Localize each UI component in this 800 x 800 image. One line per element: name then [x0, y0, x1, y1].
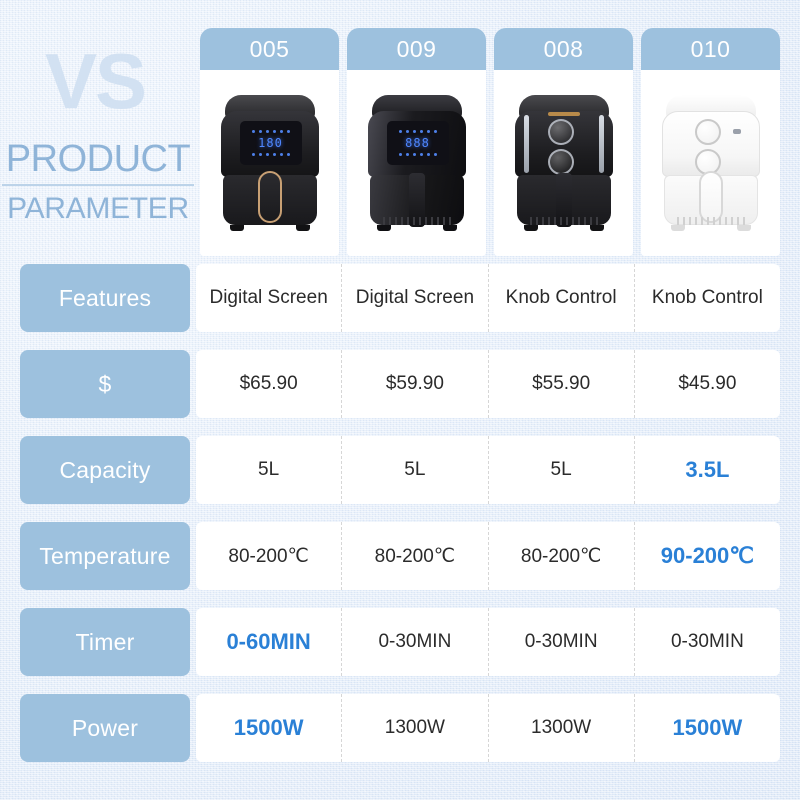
page-title-parameter: PARAMETER	[0, 193, 196, 225]
cell-timer-009: 0-30MIN	[342, 608, 488, 676]
cell-temperature-009: 80-200℃	[342, 522, 488, 590]
air-fryer-black-glossy-touch-icon: 888	[365, 95, 469, 231]
row-values: 0-60MIN 0-30MIN 0-30MIN 0-30MIN	[196, 608, 780, 676]
row-values: $65.90 $59.90 $55.90 $45.90	[196, 350, 780, 418]
cell-timer-005: 0-60MIN	[196, 608, 342, 676]
cell-temperature-005: 80-200℃	[196, 522, 342, 590]
handle	[258, 171, 282, 223]
digital-readout: 180	[258, 136, 283, 150]
cell-power-005: 1500W	[196, 694, 342, 762]
cell-price-008: $55.90	[489, 350, 635, 418]
table-row: Timer 0-60MIN 0-30MIN 0-30MIN 0-30MIN	[0, 608, 800, 676]
cell-capacity-010: 3.5L	[635, 436, 780, 504]
product-image-008	[494, 70, 633, 256]
temperature-knob	[695, 119, 721, 145]
digital-readout: 888	[405, 136, 430, 150]
power-led-icon	[733, 129, 741, 134]
comparison-table: Features Digital Screen Digital Screen K…	[0, 264, 800, 780]
air-fryer-black-digital-icon: 180	[218, 95, 322, 231]
row-label-temperature: Temperature	[20, 522, 190, 590]
table-row: Temperature 80-200℃ 80-200℃ 80-200℃ 90-2…	[0, 522, 800, 590]
table-row: $ $65.90 $59.90 $55.90 $45.90	[0, 350, 800, 418]
product-card-008[interactable]: 008	[490, 28, 637, 256]
product-image-005: 180	[200, 70, 339, 256]
product-model-label: 009	[347, 28, 486, 70]
row-values: Digital Screen Digital Screen Knob Contr…	[196, 264, 780, 332]
product-model-label: 008	[494, 28, 633, 70]
page-title-product: PRODUCT	[2, 140, 194, 186]
cell-capacity-009: 5L	[342, 436, 488, 504]
cell-temperature-008: 80-200℃	[489, 522, 635, 590]
product-model-label: 005	[200, 28, 339, 70]
product-card-010[interactable]: 010	[637, 28, 784, 256]
row-label-power: Power	[20, 694, 190, 762]
timer-knob	[548, 149, 574, 175]
cell-price-009: $59.90	[342, 350, 488, 418]
handle	[699, 171, 723, 223]
product-image-010	[641, 70, 780, 256]
row-label-price: $	[20, 350, 190, 418]
cell-features-010: Knob Control	[635, 264, 780, 332]
side-accent	[599, 115, 604, 173]
air-fryer-white-knob-icon	[659, 95, 763, 231]
row-label-timer: Timer	[20, 608, 190, 676]
table-row: Capacity 5L 5L 5L 3.5L	[0, 436, 800, 504]
page-title-block: VS PRODUCT PARAMETER	[0, 44, 196, 224]
cell-price-005: $65.90	[196, 350, 342, 418]
digital-panel: 180	[240, 121, 302, 165]
product-card-005[interactable]: 005 180	[196, 28, 343, 256]
cell-power-008: 1300W	[489, 694, 635, 762]
cell-capacity-005: 5L	[196, 436, 342, 504]
cell-capacity-008: 5L	[489, 436, 635, 504]
vents	[383, 217, 451, 225]
cell-power-009: 1300W	[342, 694, 488, 762]
cell-features-008: Knob Control	[489, 264, 635, 332]
cell-power-010: 1500W	[635, 694, 780, 762]
cell-timer-008: 0-30MIN	[489, 608, 635, 676]
accent-strip	[548, 112, 580, 116]
side-accent	[524, 115, 529, 173]
cell-timer-010: 0-30MIN	[635, 608, 780, 676]
cell-temperature-010: 90-200℃	[635, 522, 780, 590]
product-model-label: 010	[641, 28, 780, 70]
table-row: Power 1500W 1300W 1300W 1500W	[0, 694, 800, 762]
vs-watermark: VS	[0, 44, 196, 118]
row-values: 5L 5L 5L 3.5L	[196, 436, 780, 504]
vents	[677, 217, 745, 225]
row-label-capacity: Capacity	[20, 436, 190, 504]
row-label-features: Features	[20, 264, 190, 332]
product-cards: 005 180	[196, 28, 784, 256]
product-card-009[interactable]: 009 888	[343, 28, 490, 256]
cell-features-005: Digital Screen	[196, 264, 342, 332]
vents	[530, 217, 598, 225]
row-values: 80-200℃ 80-200℃ 80-200℃ 90-200℃	[196, 522, 780, 590]
comparison-page: VS PRODUCT PARAMETER 005 180	[0, 0, 800, 800]
product-image-009: 888	[347, 70, 486, 256]
air-fryer-black-knob-icon	[512, 95, 616, 231]
row-values: 1500W 1300W 1300W 1500W	[196, 694, 780, 762]
table-row: Features Digital Screen Digital Screen K…	[0, 264, 800, 332]
temperature-knob	[548, 119, 574, 145]
cell-features-009: Digital Screen	[342, 264, 488, 332]
cell-price-010: $45.90	[635, 350, 780, 418]
digital-panel: 888	[387, 121, 449, 165]
